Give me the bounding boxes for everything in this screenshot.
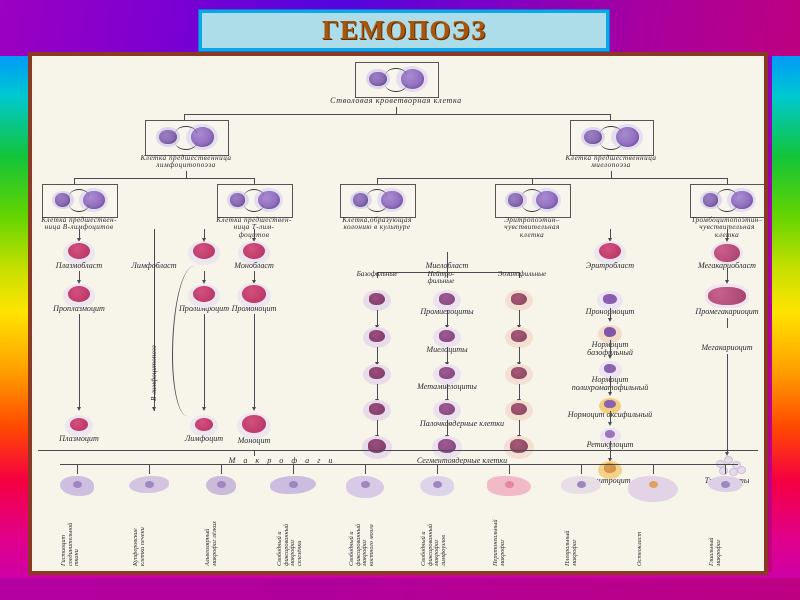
myelo-trunk	[611, 171, 612, 178]
myelopoiesis-progenitor-box-small-cell	[584, 130, 601, 145]
granulocyte-cell-r3-c1	[363, 364, 391, 385]
megakaryocyte-label-line-1: Мегакариоцит	[607, 344, 768, 352]
granulocyte-cell-r2-c1	[363, 327, 391, 348]
megakaryoblast-label-line-1: Мегакариобласт	[607, 262, 768, 270]
monocyte-cell	[237, 413, 271, 439]
macrophage-label-8: Плевральныймакрофаг	[565, 426, 578, 566]
macrophage-nucleus-3	[217, 481, 226, 488]
erythropoietin-sensitive-box-arc-forward	[522, 189, 543, 197]
macrophage-nucleus-10	[721, 481, 730, 488]
macrophage-label-3: Альвеолярныймакрофаг лёгких	[205, 426, 218, 566]
proplasmocyte-to-plasmocyte	[79, 314, 80, 407]
granulocyte-stage-label-4-line-1: Палочкоядерные клетки	[342, 420, 582, 428]
granulocyte-cell-r4-c1	[363, 400, 391, 421]
hematopoiesis-diagram-panel: Стволовая кроветворная клеткаКлетка пред…	[28, 52, 768, 575]
monocyte-label: Моноцит	[134, 437, 374, 445]
lymphoblast-feedback-arc	[172, 266, 209, 416]
thrombopoietin-sensitive-label-line-2: чувствительная	[607, 224, 768, 231]
macrophage-drop-8	[581, 464, 582, 474]
proplasmocyte-to-plasmocyte-arrow	[77, 407, 81, 411]
slide-title-box: ГЕМОПОЭЗ	[199, 10, 609, 51]
thrombopoietin-sensitive-label: Тромбоцитопоэтин–чувствительнаяклетка	[607, 217, 768, 239]
stem-trunk	[396, 107, 397, 114]
b-lineage-arrow	[152, 407, 156, 411]
purple-bottom-band	[0, 578, 800, 600]
myelopoiesis-progenitor-label: Клетка предшественницамиелопоэза	[491, 155, 731, 170]
myeloblast-trunk	[447, 252, 448, 272]
macrophage-drop-10	[725, 464, 726, 474]
granulocyte-stage-label-4: Палочкоядерные клетки	[342, 420, 582, 428]
t-progenitor-to-lymphoblast-arrow	[202, 238, 206, 242]
macrophage-nucleus-9	[649, 481, 658, 488]
macrophage-nucleus-2	[145, 481, 154, 488]
lymphopoiesis-progenitor-label-line-2: лимфоцитопоэза	[66, 162, 306, 169]
megakaryocyte-to-platelets	[727, 354, 728, 452]
stem-cell-box-small-cell	[369, 72, 386, 87]
macrophage-label-5-line-4: костного мозга	[369, 426, 376, 566]
macrophage-drop-2	[149, 464, 150, 474]
cfu-progenitor-box-arc-forward	[367, 189, 388, 197]
tpo-to-megakaryoblast	[727, 229, 728, 238]
b-lymphocyte-progenitor-box-arc-forward	[69, 189, 90, 197]
macrophage-label-10: Глиальныймакрофаг	[709, 426, 722, 566]
erythroid-step-4-arrow	[608, 422, 612, 426]
promonocyte-to-monocyte	[254, 314, 255, 407]
t-lymphocyte-progenitor-box-arc-forward	[244, 189, 265, 197]
myelo-bus	[377, 178, 727, 179]
neutrophil-subtype-label-line-2: фильные	[321, 278, 561, 285]
macrophage-drop-9	[653, 464, 654, 474]
lymph-bus	[74, 178, 254, 179]
page-title: ГЕМОПОЭЗ	[322, 15, 487, 46]
macrophage-label-5: Свободный ификсированныймакрофагкостного…	[349, 426, 375, 566]
macrophage-label-1: Гистиоцитсоединительнойткани	[61, 426, 81, 566]
slide: ГЕМОПОЭЗ Стволовая кроветворная клеткаКл…	[0, 0, 800, 600]
promonocyte-to-monocyte-arrow	[252, 407, 256, 411]
promegakaryocyte-nucleus	[708, 287, 746, 305]
myelopoiesis-progenitor-label-line-2: миелопоэза	[491, 162, 731, 169]
erythroid-step-4	[610, 411, 611, 422]
plasmablast-to-proplasmocyte	[79, 271, 80, 280]
macrophage-nucleus-8	[577, 481, 586, 488]
stem-cell-label-line-1: Стволовая кроветворная клетка	[276, 97, 516, 105]
macrophage-label-1-line-3: ткани	[74, 426, 81, 566]
macrophage-label-4-line-4: селезёнки	[297, 426, 304, 566]
monoblast-to-promonocyte	[254, 271, 255, 280]
promegakaryocyte-label-line-1: Промегакариоцит	[607, 308, 768, 316]
lymphopoiesis-progenitor-box-small-cell	[159, 130, 176, 145]
diagram-canvas: Стволовая кроветворная клеткаКлетка пред…	[32, 56, 764, 571]
erythroid-step-3-arrow	[608, 392, 612, 396]
macrophage-label-6-line-4: лимфоузлов	[441, 426, 448, 566]
macrophage-cell-9	[628, 476, 678, 502]
macrophage-label-10-line-2: макрофаг	[716, 426, 723, 566]
macrophage-label-7: Перитонеальныймакрофаг	[493, 426, 506, 566]
macrophage-label-3-line-2: макрофаг лёгких	[212, 426, 219, 566]
macrophage-label-2-line-2: клетки печени	[140, 426, 147, 566]
b-progenitor-to-plasmablast	[79, 229, 80, 238]
thrombopoietin-sensitive-box-arc-forward	[717, 189, 738, 197]
lymph-trunk	[186, 171, 187, 178]
macrophage-drop-7	[509, 464, 510, 474]
cfu-to-monoblast	[254, 229, 255, 238]
erythroid-step-1-arrow	[608, 318, 612, 322]
promegakaryocyte-label: Промегакариоцит	[607, 308, 768, 316]
monocyte-label-line-1: Моноцит	[134, 437, 374, 445]
lymphopoiesis-progenitor-label: Клетка предшественницалимфоцитопоэза	[66, 155, 306, 170]
macrophage-nucleus-7	[505, 481, 514, 488]
megakaryocyte-label: Мегакариоцит	[607, 344, 768, 352]
macrophage-label-9-line-1: Остеокласт	[637, 426, 644, 566]
stem-cell-label: Стволовая кроветворная клетка	[276, 97, 516, 105]
eosinophil-subtype-label-line-1: Эозинофильные	[402, 271, 642, 278]
erythroid-step-3	[610, 376, 611, 392]
epo-to-erythroblast	[610, 229, 611, 238]
macrophage-label-4: Свободный ификсированныймакрофагселезёнк…	[277, 426, 303, 566]
tier2-bus	[184, 114, 610, 115]
t-progenitor-to-lymphoblast	[204, 229, 205, 238]
eosinophil-subtype-label: Эозинофильные	[402, 271, 642, 278]
macrophage-label-2: Купферовскиеклетки печени	[133, 426, 146, 566]
thrombopoietin-sensitive-label-line-3: клетка	[607, 232, 768, 239]
macrophage-drop-3	[221, 464, 222, 474]
megakaryoblast-label: Мегакариобласт	[607, 262, 768, 270]
promegakaryocyte-to-megakaryocyte	[727, 318, 728, 328]
megakaryoblast-to-promegakaryocyte	[727, 268, 728, 280]
megakaryoblast-nucleus	[714, 244, 740, 262]
macrophage-label-8-line-2: макрофаг	[572, 426, 579, 566]
macrophage-label-6: Свободный ификсированныймакрофаглимфоузл…	[421, 426, 447, 566]
granulocyte-cell-r4-c2	[433, 400, 461, 421]
macrophage-label-7-line-2: макрофаг	[500, 426, 507, 566]
erythroid-step-2-arrow	[608, 355, 612, 359]
platelet-6	[737, 466, 746, 474]
macrophage-label-9: Остеокласт	[637, 426, 644, 566]
